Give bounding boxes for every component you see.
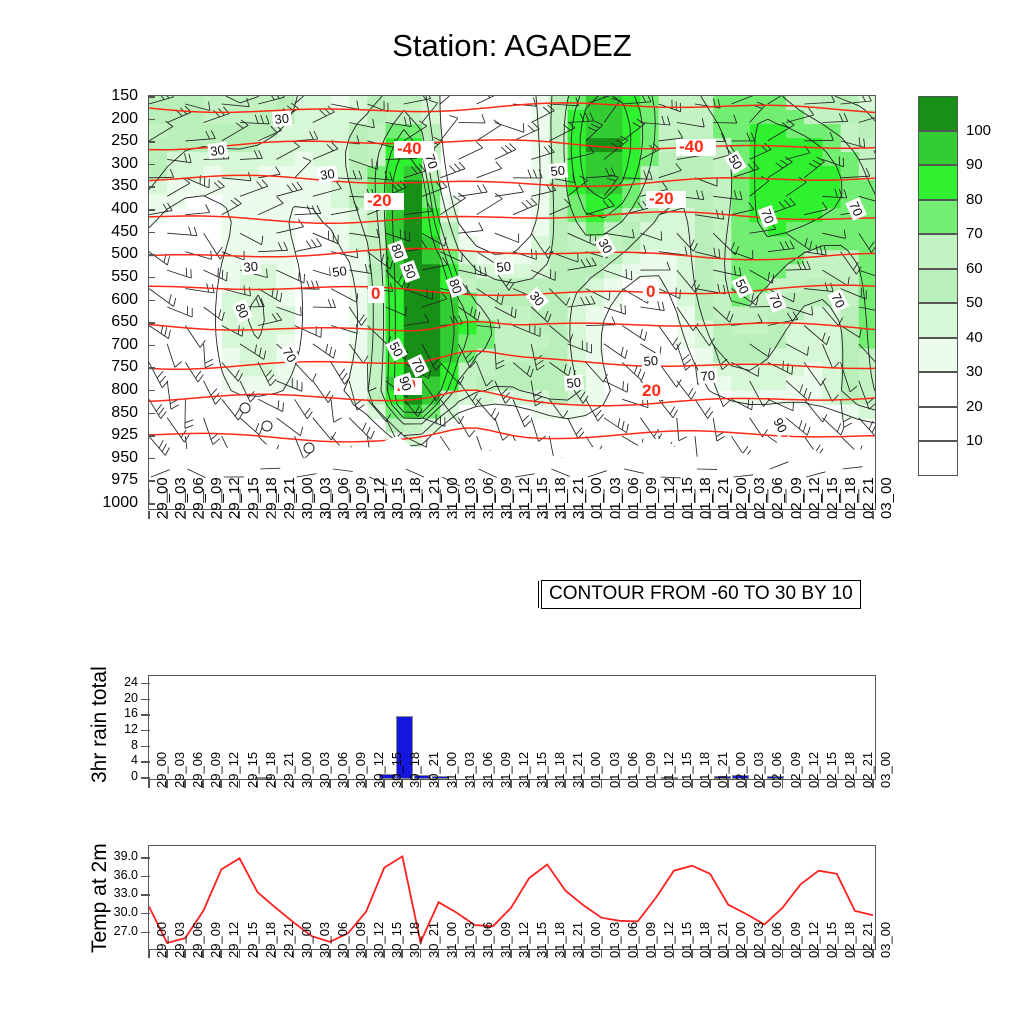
x-tickmark	[220, 780, 222, 788]
x-tickmark	[546, 780, 548, 788]
x-tickmark	[709, 950, 711, 958]
pressure-tick-200: 200	[78, 110, 138, 128]
pressure-tick-250: 250	[78, 132, 138, 150]
x-tickmark	[800, 780, 802, 788]
temp-tick-30: 30.0	[90, 905, 138, 919]
rain-tickmark	[141, 730, 150, 732]
x-tickmark	[347, 780, 349, 788]
x-tickmark	[311, 950, 313, 958]
x-tickmark	[601, 511, 603, 519]
x-tickmark	[564, 511, 566, 519]
x-tickmark	[275, 950, 277, 958]
x-tickmark	[329, 780, 331, 788]
svg-text:-40: -40	[397, 139, 422, 158]
x-tickmark	[763, 780, 765, 788]
x-tickmark	[257, 780, 259, 788]
rain-tick-8: 8	[98, 738, 138, 752]
x-tickmark	[456, 950, 458, 958]
rain-tickmark	[141, 761, 150, 763]
x-tickmark	[420, 780, 422, 788]
rain-tickmark	[141, 777, 150, 779]
x-tickmark	[184, 511, 186, 519]
rain-tick-16: 16	[98, 706, 138, 720]
colorbar-band-10	[918, 441, 958, 476]
x-tickmark	[220, 511, 222, 519]
x-tickmark	[401, 780, 403, 788]
x-tickmark	[655, 780, 657, 788]
x-tickmark	[202, 511, 204, 519]
x-tickmark	[582, 511, 584, 519]
x-tickmark	[329, 511, 331, 519]
x-tickmark	[166, 950, 168, 958]
x-tickmark	[166, 511, 168, 519]
x-tickmark	[727, 511, 729, 519]
rain-tickmark	[141, 714, 150, 716]
pressure-tick-925: 925	[78, 426, 138, 444]
x-tickmark	[148, 780, 150, 788]
x-tickmark	[239, 511, 241, 519]
x-tickmark	[148, 950, 150, 958]
x-tickmark	[673, 780, 675, 788]
x-tickmark	[763, 511, 765, 519]
x-tickmark	[239, 780, 241, 788]
x-tickmark	[836, 511, 838, 519]
x-tickmark	[872, 511, 874, 519]
rain-tick-20: 20	[98, 691, 138, 705]
temp-tick-27: 27.0	[90, 924, 138, 938]
x-tickmark	[836, 950, 838, 958]
svg-text:20: 20	[642, 381, 661, 400]
rain-tickmark	[141, 746, 150, 748]
pressure-tick-950: 950	[78, 449, 138, 467]
x-tickmark	[438, 780, 440, 788]
svg-text:50: 50	[496, 259, 512, 275]
x-tickmark	[582, 780, 584, 788]
x-tickmark	[347, 950, 349, 958]
x-tickmark	[800, 511, 802, 519]
x-tickmark	[311, 780, 313, 788]
x-tickmark	[745, 950, 747, 958]
x-tickmark	[510, 950, 512, 958]
colorbar-band-9	[918, 407, 958, 442]
pressure-tick-650: 650	[78, 313, 138, 331]
rain-tickmark	[141, 699, 150, 701]
x-tickmark	[637, 780, 639, 788]
x-tickmark	[528, 511, 530, 519]
x-tickmark	[872, 950, 874, 958]
x-tickmark	[745, 511, 747, 519]
x-tickmark	[709, 511, 711, 519]
svg-text:-40: -40	[679, 137, 704, 156]
pressure-tick-500: 500	[78, 245, 138, 263]
colorbar-label-90: 90	[966, 156, 983, 173]
pressure-tick-850: 850	[78, 404, 138, 422]
x-tickmark	[220, 950, 222, 958]
x-tickmark	[202, 950, 204, 958]
x-tickmark	[673, 511, 675, 519]
x-tickmark	[510, 511, 512, 519]
x-tickmark	[818, 950, 820, 958]
x-tickmark	[727, 950, 729, 958]
x-tickmark	[293, 950, 295, 958]
x-tickmark	[239, 950, 241, 958]
x-tickmark	[763, 950, 765, 958]
temp-tickmark	[141, 894, 150, 896]
sounding-main-panel: -40-40-20-200020203030303030305050505050…	[148, 95, 876, 510]
x-tickmark	[564, 780, 566, 788]
pressure-tick-150: 150	[78, 87, 138, 105]
x-tickmark	[202, 780, 204, 788]
x-tickmark	[619, 950, 621, 958]
x-tickmark	[492, 950, 494, 958]
x-tickmark	[383, 511, 385, 519]
x-tickmark	[311, 511, 313, 519]
svg-text:50: 50	[331, 263, 347, 280]
x-tickmark	[564, 950, 566, 958]
colorbar-label-30: 30	[966, 363, 983, 380]
x-tickmark	[546, 511, 548, 519]
svg-text:50: 50	[550, 163, 566, 179]
x-tickmark	[293, 511, 295, 519]
temp-tick-33: 33.0	[90, 886, 138, 900]
temp-tickmark	[141, 857, 150, 859]
x-tickmark	[474, 950, 476, 958]
colorbar-band-8	[918, 372, 958, 407]
pressure-tick-450: 450	[78, 223, 138, 241]
svg-text:50: 50	[643, 353, 659, 369]
colorbar-label-50: 50	[966, 294, 983, 311]
contour-legend: CONTOUR FROM -60 TO 30 BY 10	[541, 580, 861, 609]
x-tickmark	[275, 780, 277, 788]
rain-tickmark	[141, 683, 150, 685]
colorbar-band-2	[918, 165, 958, 200]
pressure-tick-550: 550	[78, 268, 138, 286]
pressure-tick-700: 700	[78, 336, 138, 354]
x-tickmark	[184, 780, 186, 788]
svg-text:30: 30	[243, 259, 259, 275]
sounding-svg: -40-40-20-200020203030303030305050505050…	[149, 96, 876, 510]
x-tickmark	[528, 950, 530, 958]
colorbar-band-3	[918, 200, 958, 235]
x-tickmark	[456, 511, 458, 519]
x-tickmark	[655, 511, 657, 519]
rain-xtick-03_00: 03_00	[878, 752, 893, 788]
x-tickmark	[347, 511, 349, 519]
x-tickmark	[365, 511, 367, 519]
colorbar-band-7	[918, 338, 958, 373]
x-tickmark	[619, 780, 621, 788]
x-tickmark	[275, 511, 277, 519]
colorbar-band-6	[918, 303, 958, 338]
x-tickmark	[420, 950, 422, 958]
x-tickmark	[492, 511, 494, 519]
x-tickmark	[184, 950, 186, 958]
sounding-figure: Station: AGADEZ -40-40-20-20002020303030…	[0, 0, 1024, 1024]
x-tickmark	[673, 950, 675, 958]
rain-tick-24: 24	[98, 675, 138, 689]
pressure-tick-750: 750	[78, 358, 138, 376]
x-tickmark	[709, 780, 711, 788]
svg-text:-20: -20	[649, 189, 674, 208]
colorbar-band-0	[918, 96, 958, 131]
x-tickmark	[800, 950, 802, 958]
x-tickmark	[836, 780, 838, 788]
x-tickmark	[854, 511, 856, 519]
x-tickmark	[329, 950, 331, 958]
svg-text:-20: -20	[367, 191, 392, 210]
x-tickmark	[401, 950, 403, 958]
x-tickmark	[510, 780, 512, 788]
x-tickmark	[474, 511, 476, 519]
x-tickmark	[582, 950, 584, 958]
x-tickmark	[637, 511, 639, 519]
x-tickmark	[257, 511, 259, 519]
x-tickmark	[691, 511, 693, 519]
x-tickmark	[601, 950, 603, 958]
rain-tick-4: 4	[98, 753, 138, 767]
temp-tick-36: 36.0	[90, 868, 138, 882]
x-tickmark	[655, 950, 657, 958]
x-tickmark	[691, 780, 693, 788]
pressure-tick-975: 975	[78, 471, 138, 489]
temp-tickmark	[141, 913, 150, 915]
colorbar-label-80: 80	[966, 191, 983, 208]
x-tickmark	[727, 780, 729, 788]
x-tickmark	[383, 780, 385, 788]
x-tickmark	[854, 780, 856, 788]
x-tickmark	[456, 780, 458, 788]
colorbar-label-10: 10	[966, 432, 983, 449]
x-tickmark	[166, 780, 168, 788]
svg-text:70: 70	[700, 368, 716, 384]
x-tickmark	[420, 511, 422, 519]
pressure-tick-300: 300	[78, 155, 138, 173]
x-tickmark	[782, 780, 784, 788]
x-tickmark	[293, 780, 295, 788]
svg-text:50: 50	[566, 375, 582, 391]
x-tickmark	[546, 950, 548, 958]
humidity-colorbar: 100908070605040302010	[918, 96, 958, 476]
rain-tick-12: 12	[98, 722, 138, 736]
rain-tick-0: 0	[98, 769, 138, 783]
x-tickmark	[438, 511, 440, 519]
x-tickmark	[818, 511, 820, 519]
x-tickmark	[691, 950, 693, 958]
x-tickmark	[438, 950, 440, 958]
x-tickmark	[257, 950, 259, 958]
temp-tickmark	[141, 932, 150, 934]
pressure-tick-1000: 1000	[78, 494, 138, 512]
colorbar-label-70: 70	[966, 225, 983, 242]
x-tickmark	[492, 780, 494, 788]
temp-tick-39: 39.0	[90, 849, 138, 863]
svg-text:30: 30	[319, 166, 336, 183]
x-tickmark	[601, 780, 603, 788]
svg-text:0: 0	[371, 284, 380, 303]
x-tickmark	[619, 511, 621, 519]
colorbar-band-5	[918, 269, 958, 304]
x-tickmark	[401, 511, 403, 519]
x-tickmark	[148, 511, 150, 519]
svg-text:30: 30	[209, 142, 225, 159]
colorbar-label-100: 100	[966, 122, 991, 139]
main-xtick-03_00: 03_00	[878, 477, 895, 519]
x-tickmark	[782, 950, 784, 958]
pressure-tick-800: 800	[78, 381, 138, 399]
pressure-tick-350: 350	[78, 177, 138, 195]
temp-xtick-03_00: 03_00	[878, 922, 893, 958]
pressure-tick-600: 600	[78, 291, 138, 309]
colorbar-label-40: 40	[966, 329, 983, 346]
x-tickmark	[745, 780, 747, 788]
colorbar-band-1	[918, 131, 958, 166]
x-tickmark	[854, 950, 856, 958]
x-tickmark	[637, 950, 639, 958]
x-tickmark	[365, 780, 367, 788]
svg-text:0: 0	[646, 282, 655, 301]
colorbar-label-20: 20	[966, 398, 983, 415]
x-tickmark	[365, 950, 367, 958]
x-tickmark	[818, 780, 820, 788]
x-tickmark	[474, 780, 476, 788]
x-tickmark	[528, 780, 530, 788]
temp-tickmark	[141, 876, 150, 878]
x-tickmark	[383, 950, 385, 958]
svg-text:30: 30	[274, 111, 290, 127]
x-tickmark	[872, 780, 874, 788]
pressure-tick-400: 400	[78, 200, 138, 218]
colorbar-label-60: 60	[966, 260, 983, 277]
colorbar-band-4	[918, 234, 958, 269]
page-title: Station: AGADEZ	[0, 28, 1024, 64]
x-tickmark	[782, 511, 784, 519]
